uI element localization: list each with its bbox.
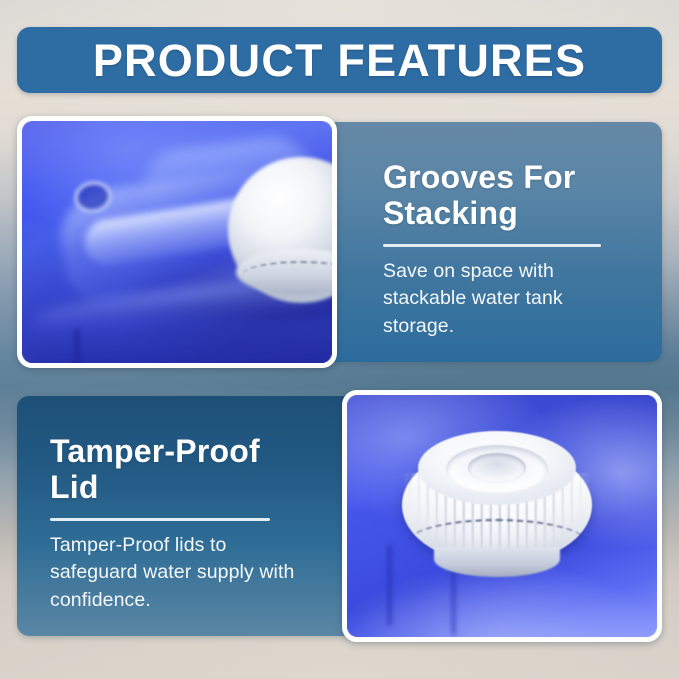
cap-center-opening: [468, 453, 526, 483]
page-title: PRODUCT FEATURES: [93, 38, 586, 83]
feature-photo-tamper-proof-lid: [342, 390, 662, 642]
feature-row-tamper-proof-lid: Tamper-Proof Lid Tamper-Proof lids to sa…: [17, 390, 662, 642]
feature-divider: [50, 518, 270, 521]
photo-inner-grooves: [22, 121, 332, 363]
feature-divider: [383, 244, 601, 247]
feature-photo-grooves-for-stacking: [17, 116, 337, 368]
feature-row-grooves-for-stacking: Grooves For Stacking Save on space with …: [17, 116, 662, 368]
cap-base-skirt: [434, 547, 560, 577]
header-banner: PRODUCT FEATURES: [17, 27, 662, 93]
tank-mold-seam: [74, 329, 80, 363]
tamper-proof-cap: [402, 431, 592, 581]
photo-inner-lid: [347, 395, 657, 637]
feature-title-grooves-for-stacking: Grooves For Stacking: [383, 160, 622, 232]
tank-mold-seam-left: [387, 545, 392, 625]
feature-description-tamper-proof-lid: Tamper-Proof lids to safeguard water sup…: [50, 532, 296, 615]
feature-title-tamper-proof-lid: Tamper-Proof Lid: [50, 434, 296, 506]
feature-description-grooves-for-stacking: Save on space with stackable water tank …: [383, 258, 622, 341]
